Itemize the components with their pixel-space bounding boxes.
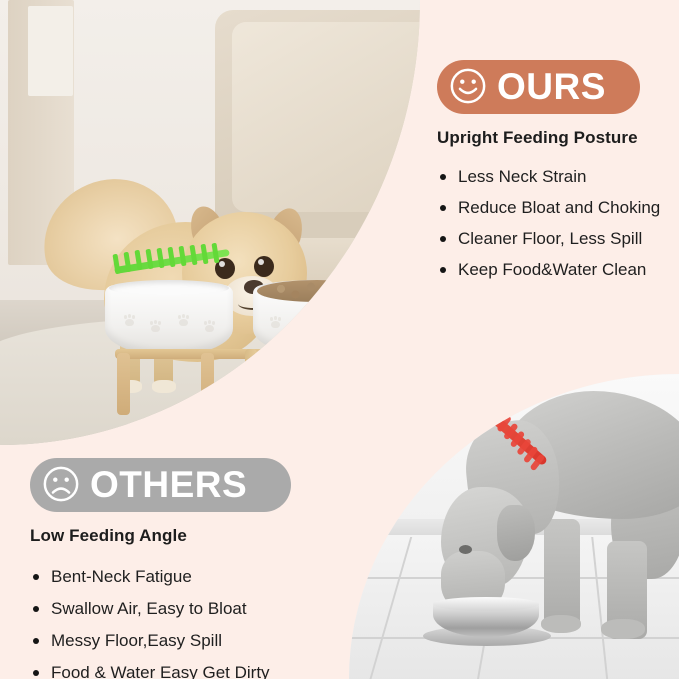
list-item: Cleaner Floor, Less Spill xyxy=(437,230,675,247)
wood-stand-leg xyxy=(293,353,306,415)
paw-print-icon xyxy=(123,315,136,326)
paw-print-icon xyxy=(177,315,190,326)
sad-face-icon xyxy=(42,465,80,503)
photo-others-low-feeding xyxy=(349,369,679,679)
list-item: Messy Floor,Easy Spill xyxy=(30,632,360,649)
others-badge: OTHERS xyxy=(30,458,291,512)
door-panel xyxy=(28,6,73,96)
smiley-face-icon xyxy=(449,67,487,105)
ours-panel: OURS Upright Feeding Posture Less Neck S… xyxy=(437,60,675,292)
dog-food-kibble xyxy=(257,280,377,302)
paw-print-icon xyxy=(203,321,216,332)
list-item: Keep Food&Water Clean xyxy=(437,261,675,278)
wood-stand-crossbar xyxy=(245,349,257,409)
list-item: Food & Water Easy Get Dirty xyxy=(30,664,360,679)
steel-bowl-rim xyxy=(433,597,539,611)
others-panel: OTHERS Low Feeding Angle Bent-Neck Fatig… xyxy=(30,458,360,679)
photo-ours-upright-feeding xyxy=(0,0,450,450)
paw-print-icon xyxy=(327,316,340,327)
living-room-scene xyxy=(0,0,450,450)
ours-badge: OURS xyxy=(437,60,640,114)
wood-stand-leg xyxy=(117,353,130,415)
dog-eye-right xyxy=(254,256,274,277)
ceramic-bowl-water xyxy=(105,285,233,355)
dog-paw xyxy=(541,615,581,633)
others-drawback-list: Bent-Neck Fatigue Swallow Air, Easy to B… xyxy=(30,568,360,679)
paw-print-icon xyxy=(269,317,282,328)
list-item: Less Neck Strain xyxy=(437,168,675,185)
ours-subtitle: Upright Feeding Posture xyxy=(437,128,675,148)
ours-benefit-list: Less Neck Strain Reduce Bloat and Chokin… xyxy=(437,168,675,278)
wood-stand-leg xyxy=(369,353,382,415)
paw-print-icon xyxy=(149,321,162,332)
dog-front-leg xyxy=(544,519,580,629)
list-item: Bent-Neck Fatigue xyxy=(30,568,360,585)
dog-eye xyxy=(459,545,472,554)
spine-segments-green xyxy=(112,250,232,272)
wood-stand-leg xyxy=(201,353,214,415)
dog-paw xyxy=(601,619,645,639)
list-item: Swallow Air, Easy to Bloat xyxy=(30,600,360,617)
comparison-infographic: OURS Upright Feeding Posture Less Neck S… xyxy=(0,0,679,679)
others-subtitle: Low Feeding Angle xyxy=(30,526,360,546)
list-item: Reduce Bloat and Choking xyxy=(437,199,675,216)
photo-ours-clip xyxy=(0,0,450,450)
ours-badge-label: OURS xyxy=(497,68,606,105)
paw-print-icon xyxy=(353,323,366,334)
paw-print-icon xyxy=(297,323,310,334)
elevated-bowl-stand xyxy=(105,275,400,435)
sofa-leg xyxy=(430,302,442,324)
others-badge-label: OTHERS xyxy=(90,466,247,503)
